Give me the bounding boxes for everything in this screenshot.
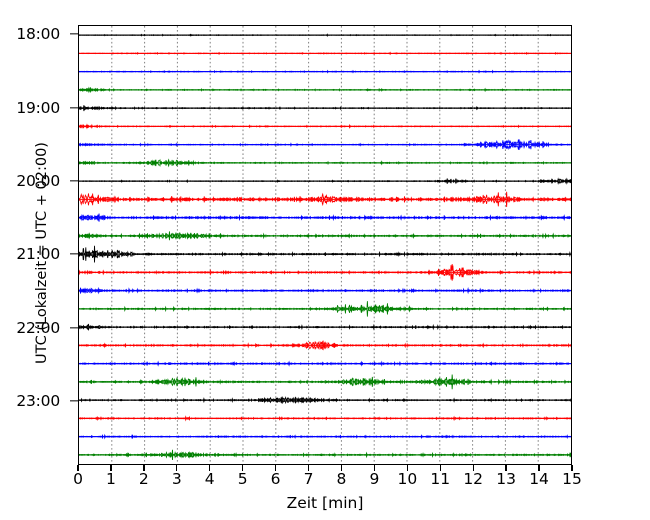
x-axis-tick-label: 12 [463, 470, 483, 488]
x-axis-tick-label: 15 [562, 470, 582, 488]
x-axis-tick-mark [440, 465, 441, 471]
x-axis-tick-mark [110, 465, 111, 471]
y-axis-tick-label: 18:00 [16, 25, 60, 43]
y-axis-tick-label: 23:00 [16, 392, 60, 410]
x-axis-tick-mark [209, 465, 210, 471]
x-axis-tick-label: 11 [430, 470, 450, 488]
x-axis-tick-mark [143, 465, 144, 471]
y-axis-tick-mark [70, 327, 78, 328]
x-axis-tick-mark [374, 465, 375, 471]
y-axis-tick-mark [70, 107, 78, 108]
x-axis-tick-mark [77, 465, 78, 471]
seismogram-traces [79, 26, 571, 464]
y-axis-tick-mark [70, 400, 78, 401]
x-axis-tick-label: 2 [139, 470, 149, 488]
x-axis-tick-label: 10 [397, 470, 417, 488]
x-axis-tick-label: 6 [271, 470, 281, 488]
x-axis-tick-mark [275, 465, 276, 471]
x-axis-tick-mark [176, 465, 177, 471]
y-axis-tick-mark [70, 34, 78, 35]
x-axis-tick-label: 1 [106, 470, 116, 488]
y-axis-tick-mark [70, 254, 78, 255]
x-axis-tick-mark [407, 465, 408, 471]
x-axis-tick-label: 5 [238, 470, 248, 488]
y-axis-tick-label: 20:00 [16, 172, 60, 190]
x-axis-title: Zeit [min] [0, 494, 650, 512]
y-axis-tick-label: 21:00 [16, 245, 60, 263]
y-axis-tick-label: 19:00 [16, 99, 60, 117]
x-axis-tick-label: 9 [369, 470, 379, 488]
x-axis-tick-label: 4 [205, 470, 215, 488]
y-axis-tick-label: 22:00 [16, 319, 60, 337]
x-axis-tick-label: 3 [172, 470, 182, 488]
x-axis-tick-label: 14 [529, 470, 549, 488]
x-axis-tick-mark [473, 465, 474, 471]
x-axis-tick-mark [505, 465, 506, 471]
x-axis-tick-label: 0 [73, 470, 83, 488]
x-axis-tick-label: 13 [496, 470, 516, 488]
x-axis-tick-label: 7 [304, 470, 314, 488]
seismogram-figure: UTC (Lokalzeit = UTC + 02:00) 18:0019:00… [0, 0, 650, 520]
x-axis-tick-mark [341, 465, 342, 471]
x-axis-tick-label: 8 [337, 470, 347, 488]
x-axis-tick-mark [538, 465, 539, 471]
x-axis-tick-mark [308, 465, 309, 471]
x-axis-tick-mark [571, 465, 572, 471]
y-axis-tick-mark [70, 180, 78, 181]
x-axis-tick-mark [242, 465, 243, 471]
plot-area[interactable] [78, 25, 572, 465]
